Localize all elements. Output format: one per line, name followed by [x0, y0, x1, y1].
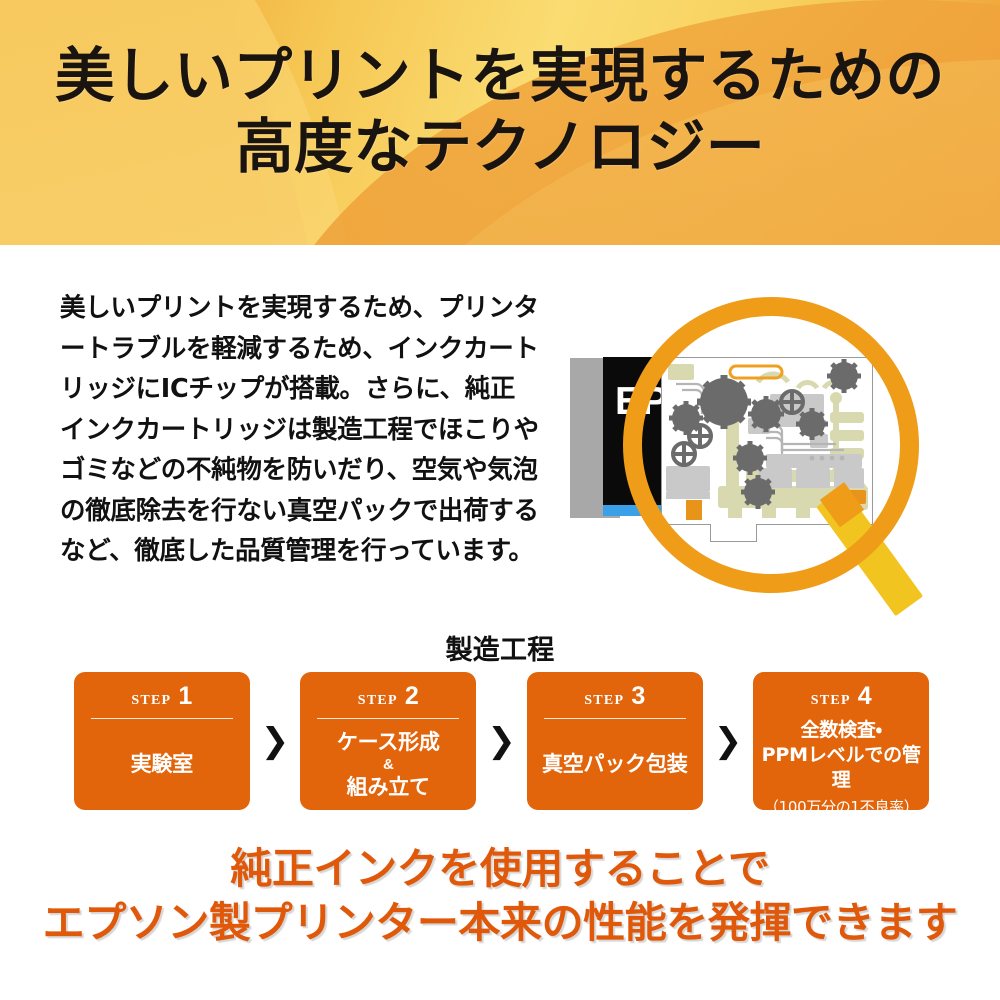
step-4-body: 全数検査・ PPMレベルでの管理 （100万分の1不良率）	[753, 718, 929, 818]
step-3-number: 3	[631, 682, 645, 711]
step-box-3[interactable]: STEP 3 真空パック包装	[527, 672, 703, 810]
step-1-line-1: 実験室	[131, 751, 193, 778]
step-4-note: （100万分の1不良率）	[764, 796, 919, 818]
step-2-body: ケース形成 & 組み立て	[331, 719, 446, 810]
body-paragraph: 美しいプリントを実現するため、プリンタートラブルを軽減するため、インクカートリッ…	[60, 288, 540, 572]
step-2-line-2: &	[383, 756, 394, 774]
step-1-number: 1	[178, 682, 192, 711]
step-4-line-1: 全数検査・	[800, 718, 882, 743]
step-1-body: 実験室	[125, 719, 199, 810]
step-box-2[interactable]: STEP 2 ケース形成 & 組み立て	[300, 672, 476, 810]
step-4-word: STEP	[811, 693, 851, 709]
header-text-group: 美しいプリントを実現するための 高度なテクノロジー	[0, 0, 1000, 245]
step-1-heading: STEP 1	[131, 682, 192, 711]
step-1-word: STEP	[131, 693, 171, 709]
step-chevron-1: ❯	[250, 672, 301, 810]
step-box-4[interactable]: STEP 4 全数検査・ PPMレベルでの管理 （100万分の1不良率）	[753, 672, 929, 810]
step-3-line-1: 真空パック包装	[542, 751, 688, 778]
step-4-heading: STEP 4	[811, 682, 872, 711]
magnifier-ring-icon	[623, 297, 919, 593]
step-3-word: STEP	[584, 693, 624, 709]
footer-headline-line2: エプソン製プリンター本来の性能を発揮できます	[0, 898, 1000, 948]
step-2-heading: STEP 2	[358, 682, 419, 711]
step-3-body: 真空パック包装	[536, 719, 694, 810]
footer-headline-line1: 純正インクを使用することで	[0, 844, 1000, 894]
step-chevron-2: ❯	[476, 672, 527, 810]
header-title-line1: 美しいプリントを実現するための	[0, 44, 1000, 108]
step-4-number: 4	[858, 682, 872, 711]
step-2-number: 2	[405, 682, 419, 711]
step-2-word: STEP	[358, 693, 398, 709]
step-4-line-2: PPMレベルでの管理	[759, 743, 923, 793]
step-2-line-3: 組み立て	[347, 774, 430, 801]
process-steps-row: STEP 1 実験室 ❯ STEP 2 ケース形成 & 組み立て ❯ STEP …	[74, 672, 929, 810]
header-title-line2: 高度なテクノロジー	[0, 115, 1000, 179]
step-3-heading: STEP 3	[584, 682, 645, 711]
step-2-line-1: ケース形成	[337, 729, 440, 756]
process-section-label: 製造工程	[0, 628, 1000, 667]
step-chevron-3: ❯	[703, 672, 754, 810]
step-box-1[interactable]: STEP 1 実験室	[74, 672, 250, 810]
illustration-cartridge-magnifier: EP	[545, 285, 1000, 625]
header-banner: 美しいプリントを実現するための 高度なテクノロジー	[0, 0, 1000, 245]
